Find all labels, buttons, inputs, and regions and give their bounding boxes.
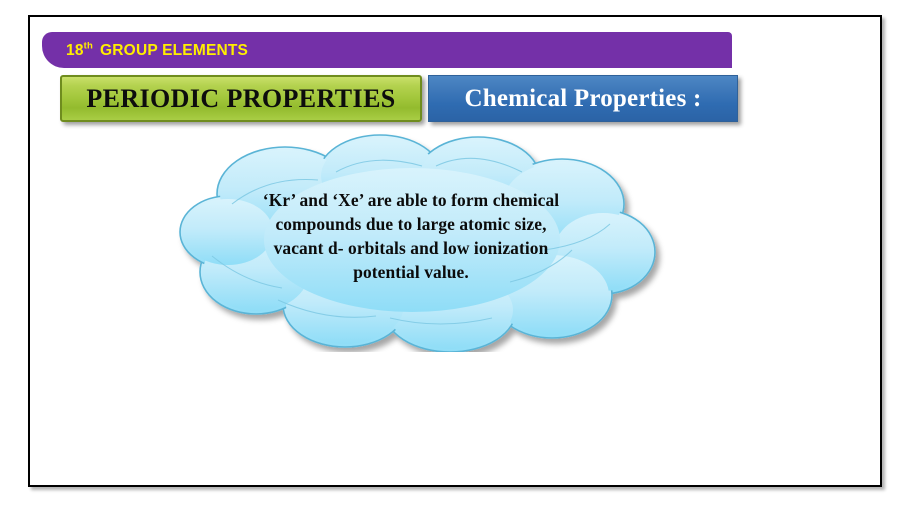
periodic-properties-label: PERIODIC PROPERTIES bbox=[86, 86, 395, 112]
group-title-text: GROUP ELEMENTS bbox=[100, 42, 248, 59]
cloud-callout: ‘Kr’ and ‘Xe’ are able to form chemical … bbox=[140, 132, 680, 352]
cloud-text-line-1: ‘Kr’ and ‘Xe’ are able to form chemical bbox=[195, 188, 627, 212]
cloud-text-line-4: potential value. bbox=[195, 260, 627, 284]
group-number: 18 bbox=[66, 42, 84, 59]
cloud-text-line-3: vacant d- orbitals and low ionization bbox=[195, 236, 627, 260]
cloud-text-line-2: compounds due to large atomic size, bbox=[195, 212, 627, 236]
slide-frame: 18thGROUP ELEMENTS PERIODIC PROPERTIES C… bbox=[28, 15, 882, 487]
cloud-text-block: ‘Kr’ and ‘Xe’ are able to form chemical … bbox=[195, 188, 627, 284]
group-number-ordinal: th bbox=[84, 41, 93, 52]
periodic-properties-plate: PERIODIC PROPERTIES bbox=[60, 75, 422, 122]
chemical-properties-label: Chemical Properties : bbox=[464, 86, 701, 111]
chemical-properties-plate: Chemical Properties : bbox=[428, 75, 738, 122]
title-banner: 18thGROUP ELEMENTS bbox=[42, 32, 732, 68]
title-banner-label: 18thGROUP ELEMENTS bbox=[66, 42, 248, 59]
